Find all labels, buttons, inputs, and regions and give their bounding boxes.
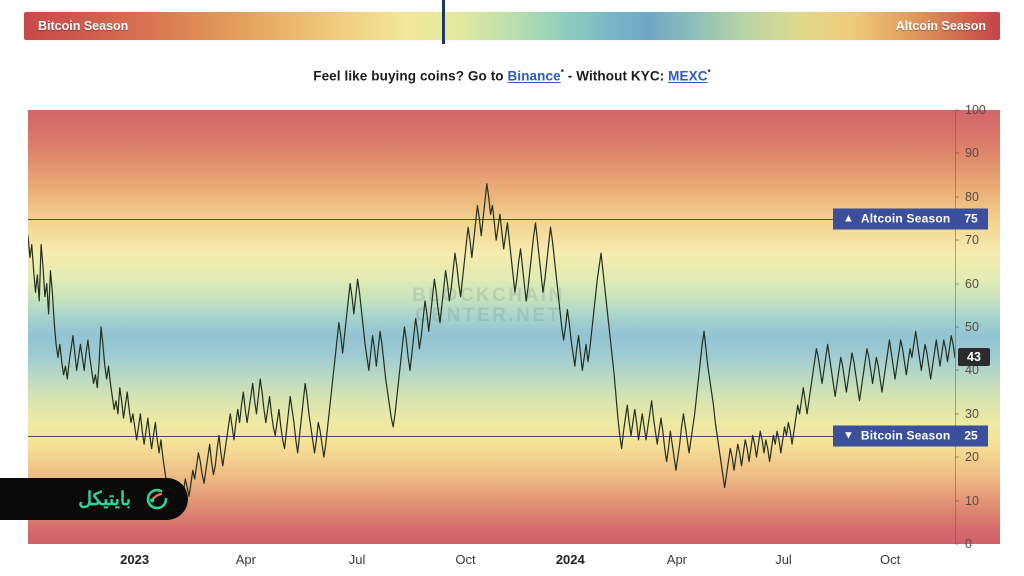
y-axis-tick-label: 60 — [965, 277, 979, 291]
mexc-link-label: MEXC — [668, 69, 707, 84]
y-axis-tick-label: 100 — [965, 103, 986, 117]
y-axis-tick-mark — [955, 110, 959, 111]
y-axis-tick-mark — [955, 240, 959, 241]
season-label-bitcoin: Bitcoin Season — [38, 12, 128, 40]
current-value-badge: 43 — [958, 348, 990, 366]
season-gauge-gradient — [24, 12, 1000, 40]
x-axis-tick-label: 2023 — [120, 552, 149, 567]
altcoin-season-index-page: Bitcoin Season Altcoin Season Feel like … — [0, 0, 1024, 576]
legend-badge-altcoin-value: 75 — [964, 208, 987, 229]
season-gauge-marker — [442, 0, 445, 44]
y-axis-tick-label: 70 — [965, 233, 979, 247]
promo-line: Feel like buying coins? Go to Binance* -… — [0, 68, 1024, 84]
y-axis-tick-mark — [955, 457, 959, 458]
promo-text-before: Feel like buying coins? Go to — [313, 69, 507, 84]
y-axis-tick-label: 80 — [965, 190, 979, 204]
x-axis-tick-label: 2024 — [556, 552, 585, 567]
byteekl-brand-badge: بایتیکل — [0, 478, 188, 520]
binance-link[interactable]: Binance — [508, 69, 561, 84]
y-axis-tick-mark — [955, 500, 959, 501]
x-axis-tick-label: Apr — [667, 552, 687, 567]
y-axis-tick-mark — [955, 544, 959, 545]
y-axis-tick-mark — [955, 370, 959, 371]
season-label-altcoin: Altcoin Season — [896, 12, 986, 40]
y-axis-tick-mark — [955, 153, 959, 154]
y-axis-tick-label: 10 — [965, 494, 979, 508]
legend-badge-bitcoin-value: 25 — [964, 425, 987, 446]
legend-badge-bitcoin-season[interactable]: ▼ Bitcoin Season 25 — [833, 425, 988, 446]
x-axis-tick-label: Jul — [349, 552, 366, 567]
brand-label: بایتیکل — [78, 488, 131, 511]
legend-badge-bitcoin-label: Bitcoin Season — [861, 425, 964, 446]
triangle-down-icon: ▼ — [833, 425, 861, 446]
x-axis-tick-label: Apr — [236, 552, 256, 567]
season-gauge-bar: Bitcoin Season Altcoin Season — [24, 12, 1000, 40]
y-axis-tick-mark — [955, 283, 959, 284]
y-axis-tick-mark — [955, 413, 959, 414]
y-axis-tick-label: 30 — [965, 407, 979, 421]
mexc-affiliate-star: * — [708, 68, 711, 77]
x-axis-tick-label: Oct — [455, 552, 475, 567]
mexc-link[interactable]: MEXC — [668, 69, 707, 84]
y-axis-tick-mark — [955, 196, 959, 197]
y-axis: 0102030405060708090100 — [955, 110, 1000, 544]
y-axis-tick-label: 20 — [965, 450, 979, 464]
promo-text-middle: - Without KYC: — [564, 69, 668, 84]
legend-badge-altcoin-season[interactable]: ▲ Altcoin Season 75 — [833, 208, 988, 229]
x-axis-tick-label: Oct — [880, 552, 900, 567]
legend-badge-altcoin-label: Altcoin Season — [861, 208, 964, 229]
y-axis-tick-label: 50 — [965, 320, 979, 334]
binance-link-label: Binance — [508, 69, 561, 84]
byteekl-logo-icon — [140, 486, 170, 512]
triangle-up-icon: ▲ — [833, 208, 861, 229]
x-axis: 2023AprJulOct2024AprJulOct — [0, 552, 1024, 576]
y-axis-tick-mark — [955, 327, 959, 328]
x-axis-tick-label: Jul — [775, 552, 792, 567]
y-axis-tick-label: 0 — [965, 537, 972, 551]
y-axis-tick-label: 90 — [965, 146, 979, 160]
